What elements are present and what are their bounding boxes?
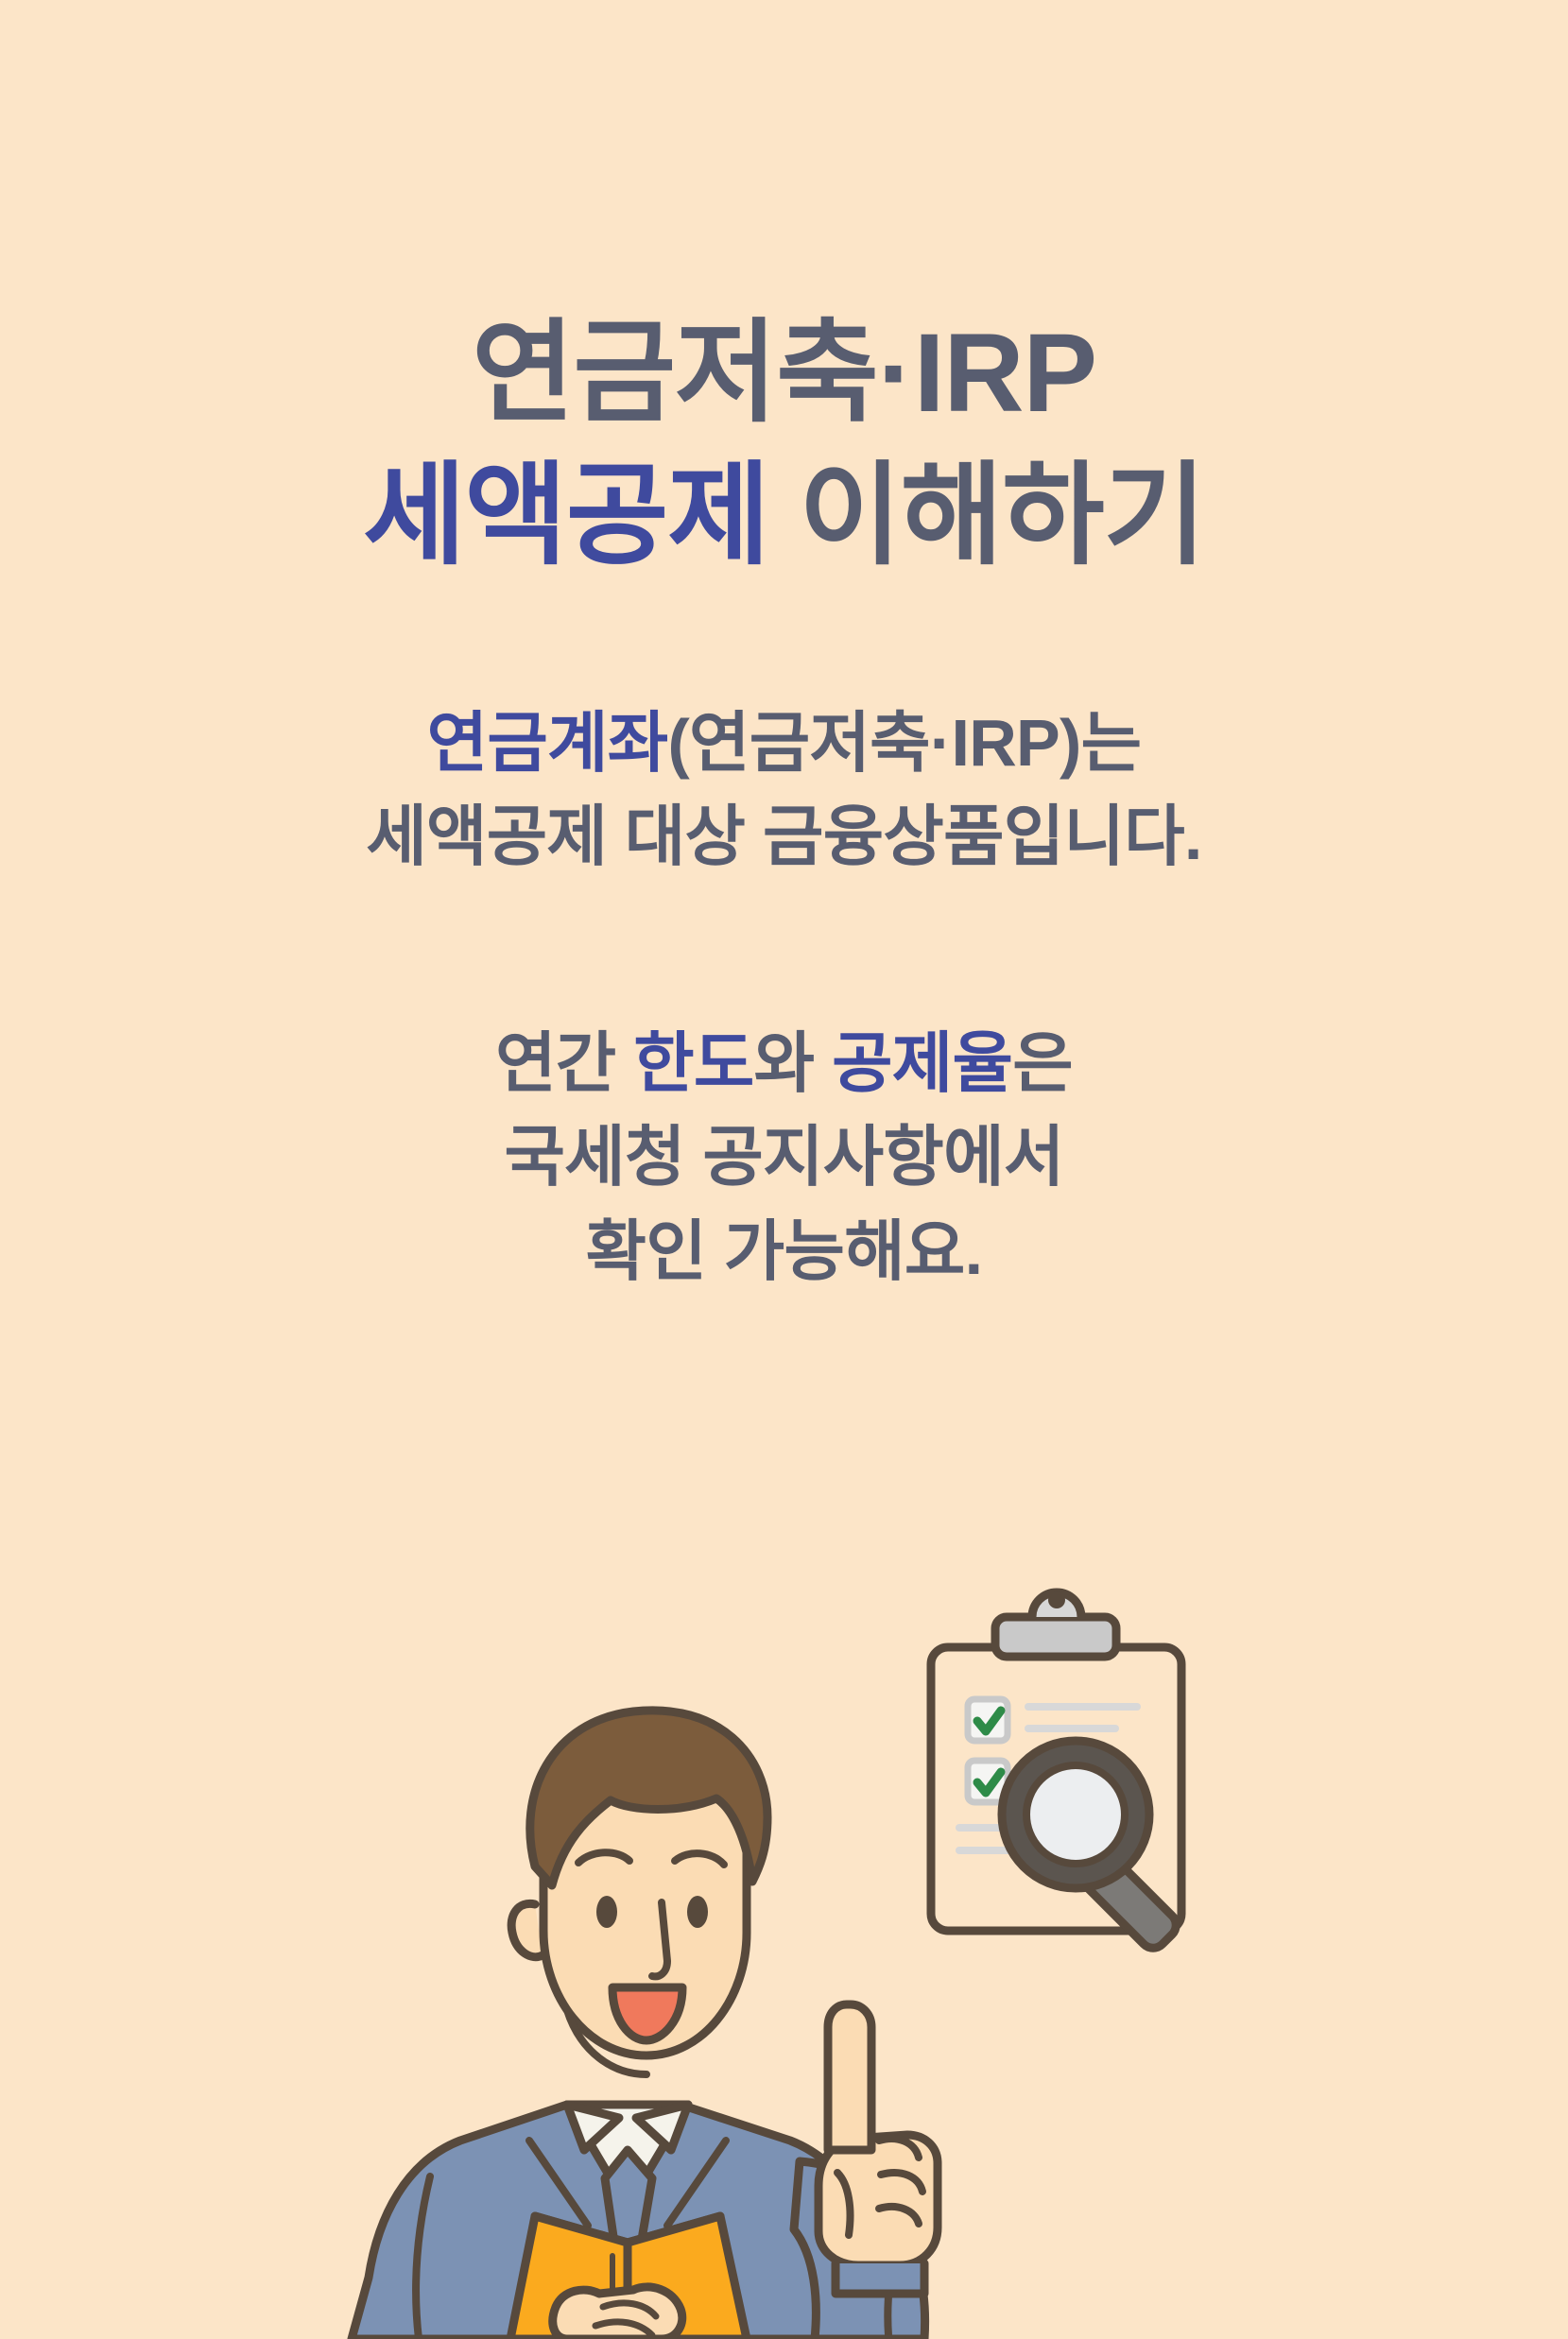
paragraph-one-line-2: 세액공제 대상 금융상품입니다. [0,790,1568,884]
open-book-icon [510,2216,747,2339]
holding-hand-icon [553,2287,682,2339]
poster-card: 연금저축·IRP 세액공제 이해하기 연금계좌(연금저축·IRP)는 세액공제 … [0,0,1568,2339]
text-content: 연금저축·IRP 세액공제 이해하기 연금계좌(연금저축·IRP)는 세액공제 … [0,0,1568,1298]
paragraph-two: 연간 한도와 공제율은 국세청 공지사항에서 확인 가능해요. [0,885,1568,1298]
clipboard-icon [931,1591,1181,1931]
illustration-svg [0,1488,1568,2339]
magnifier-icon [1002,1741,1176,1948]
paragraph-two-highlight-rate: 공제율 [832,1026,1012,1100]
character-body [352,2105,887,2339]
page-title: 연금저축·IRP 세액공제 이해하기 [0,0,1568,588]
paragraph-two-seg-c: 은 [1012,1026,1073,1100]
paragraph-two-line-3: 확인 가능해요. [0,1205,1568,1298]
title-highlight: 세액공제 [363,454,769,578]
paragraph-one-line-1: 연금계좌(연금저축·IRP)는 [0,697,1568,790]
paragraph-one-highlight: 연금계좌 [427,706,668,780]
pointing-hand-icon [818,2004,938,2294]
paragraph-two-seg-a: 연간 [495,1026,633,1100]
paragraph-one: 연금계좌(연금저축·IRP)는 세액공제 대상 금융상품입니다. [0,588,1568,885]
paragraph-one-line-1-rest: (연금저축·IRP)는 [667,706,1141,780]
character-head [511,1711,767,2074]
title-line-1: 연금저축·IRP [0,302,1568,445]
paragraph-two-seg-b: 와 [754,1026,832,1100]
character-raised-arm [794,2161,925,2339]
illustration [0,1488,1568,2339]
paragraph-two-line-1: 연간 한도와 공제율은 [0,1017,1568,1110]
title-line-2-rest: 이해하기 [769,454,1205,578]
title-line-2: 세액공제 이해하기 [0,445,1568,588]
paragraph-two-line-2: 국세청 공지사항에서 [0,1110,1568,1204]
paragraph-two-highlight-limit: 한도 [633,1026,753,1100]
